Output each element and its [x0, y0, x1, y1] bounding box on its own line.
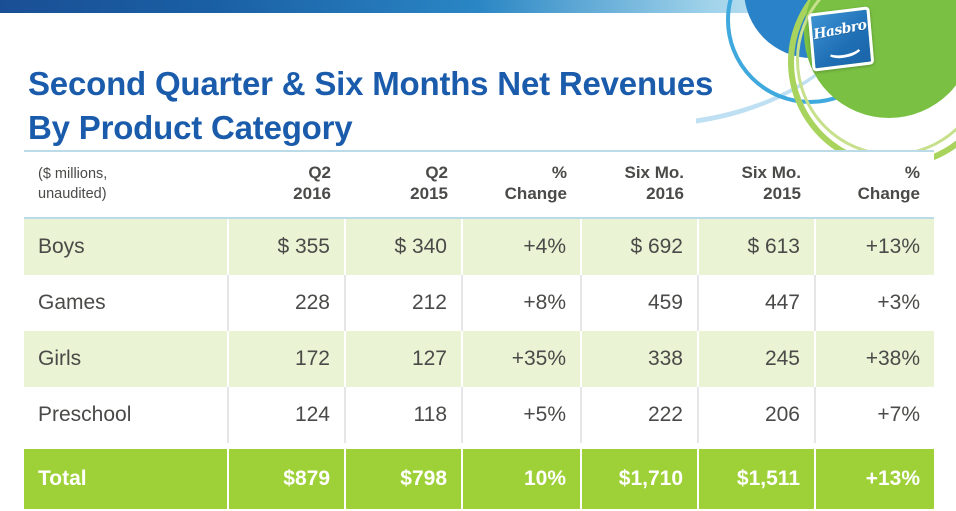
- cell-q2-change: +5%: [462, 387, 581, 443]
- total-label: Total: [24, 449, 228, 509]
- col-q2-change-line1: %: [476, 162, 567, 183]
- col-six-mo-2016-line2: 2016: [595, 183, 684, 204]
- cell-six-mo-2016: 459: [581, 275, 698, 331]
- cell-six-mo-change: +3%: [815, 275, 934, 331]
- cell-q2-2015: 127: [345, 331, 462, 387]
- page-title-line1: Second Quarter & Six Months Net Revenues: [28, 65, 713, 102]
- cell-q2-2015: $ 340: [345, 218, 462, 275]
- cell-six-mo-2015: 206: [698, 387, 815, 443]
- cell-six-mo-2016: $ 692: [581, 218, 698, 275]
- cell-q2-2015: 118: [345, 387, 462, 443]
- units-line2: unaudited): [38, 185, 214, 205]
- cell-q2-2015: 212: [345, 275, 462, 331]
- row-label: Girls: [24, 331, 228, 387]
- total-q2-2015: $798: [345, 449, 462, 509]
- cell-q2-2016: 124: [228, 387, 345, 443]
- row-label: Preschool: [24, 387, 228, 443]
- cell-q2-change: +35%: [462, 331, 581, 387]
- total-six-mo-2016: $1,710: [581, 449, 698, 509]
- cell-q2-2016: 172: [228, 331, 345, 387]
- row-label: Boys: [24, 218, 228, 275]
- column-header-six-mo-change: % Change: [815, 151, 934, 218]
- total-six-mo-2015: $1,511: [698, 449, 815, 509]
- table-row: Games 228 212 +8% 459 447 +3%: [24, 275, 934, 331]
- row-label: Games: [24, 275, 228, 331]
- cell-q2-2016: $ 355: [228, 218, 345, 275]
- cell-six-mo-2016: 222: [581, 387, 698, 443]
- cell-six-mo-2015: 245: [698, 331, 815, 387]
- cell-six-mo-change: +38%: [815, 331, 934, 387]
- total-six-mo-change: +13%: [815, 449, 934, 509]
- col-q2-2016-line2: 2016: [242, 183, 331, 204]
- column-header-q2-change: % Change: [462, 151, 581, 218]
- cell-six-mo-2015: $ 613: [698, 218, 815, 275]
- col-q2-change-line2: Change: [476, 183, 567, 204]
- column-header-q2-2016: Q2 2016: [228, 151, 345, 218]
- col-six-mo-2015-line1: Six Mo.: [712, 162, 801, 183]
- col-six-mo-2015-line2: 2015: [712, 183, 801, 204]
- table-body: Boys $ 355 $ 340 +4% $ 692 $ 613 +13% Ga…: [24, 218, 934, 509]
- table-row: Preschool 124 118 +5% 222 206 +7%: [24, 387, 934, 443]
- table-total-row: Total $879 $798 10% $1,710 $1,511 +13%: [24, 449, 934, 509]
- table-row: Girls 172 127 +35% 338 245 +38%: [24, 331, 934, 387]
- col-six-mo-2016-line1: Six Mo.: [595, 162, 684, 183]
- page-title: Second Quarter & Six Months Net Revenues…: [28, 62, 828, 149]
- total-q2-2016: $879: [228, 449, 345, 509]
- col-six-mo-change-line2: Change: [829, 183, 920, 204]
- cell-six-mo-change: +13%: [815, 218, 934, 275]
- cell-six-mo-2015: 447: [698, 275, 815, 331]
- logo-smile-icon: [825, 37, 864, 61]
- table-row: Boys $ 355 $ 340 +4% $ 692 $ 613 +13%: [24, 218, 934, 275]
- revenue-table: ($ millions, unaudited) Q2 2016 Q2 2015 …: [24, 150, 934, 509]
- table-header: ($ millions, unaudited) Q2 2016 Q2 2015 …: [24, 151, 934, 218]
- table-header-row: ($ millions, unaudited) Q2 2016 Q2 2015 …: [24, 151, 934, 218]
- column-header-label: ($ millions, unaudited): [24, 151, 228, 218]
- column-header-six-mo-2016: Six Mo. 2016: [581, 151, 698, 218]
- units-line1: ($ millions,: [38, 165, 214, 185]
- col-q2-2015-line1: Q2: [359, 162, 448, 183]
- cell-q2-2016: 228: [228, 275, 345, 331]
- cell-q2-change: +4%: [462, 218, 581, 275]
- top-gradient-bar: [0, 0, 956, 13]
- col-six-mo-change-line1: %: [829, 162, 920, 183]
- col-q2-2016-line1: Q2: [242, 162, 331, 183]
- column-header-six-mo-2015: Six Mo. 2015: [698, 151, 815, 218]
- revenue-table-container: ($ millions, unaudited) Q2 2016 Q2 2015 …: [24, 150, 932, 509]
- logo-wordmark: Hasbro: [808, 16, 872, 44]
- column-header-q2-2015: Q2 2015: [345, 151, 462, 218]
- cell-q2-change: +8%: [462, 275, 581, 331]
- page-title-line2: By Product Category: [28, 106, 828, 150]
- cell-six-mo-2016: 338: [581, 331, 698, 387]
- col-q2-2015-line2: 2015: [359, 183, 448, 204]
- cell-six-mo-change: +7%: [815, 387, 934, 443]
- total-q2-change: 10%: [462, 449, 581, 509]
